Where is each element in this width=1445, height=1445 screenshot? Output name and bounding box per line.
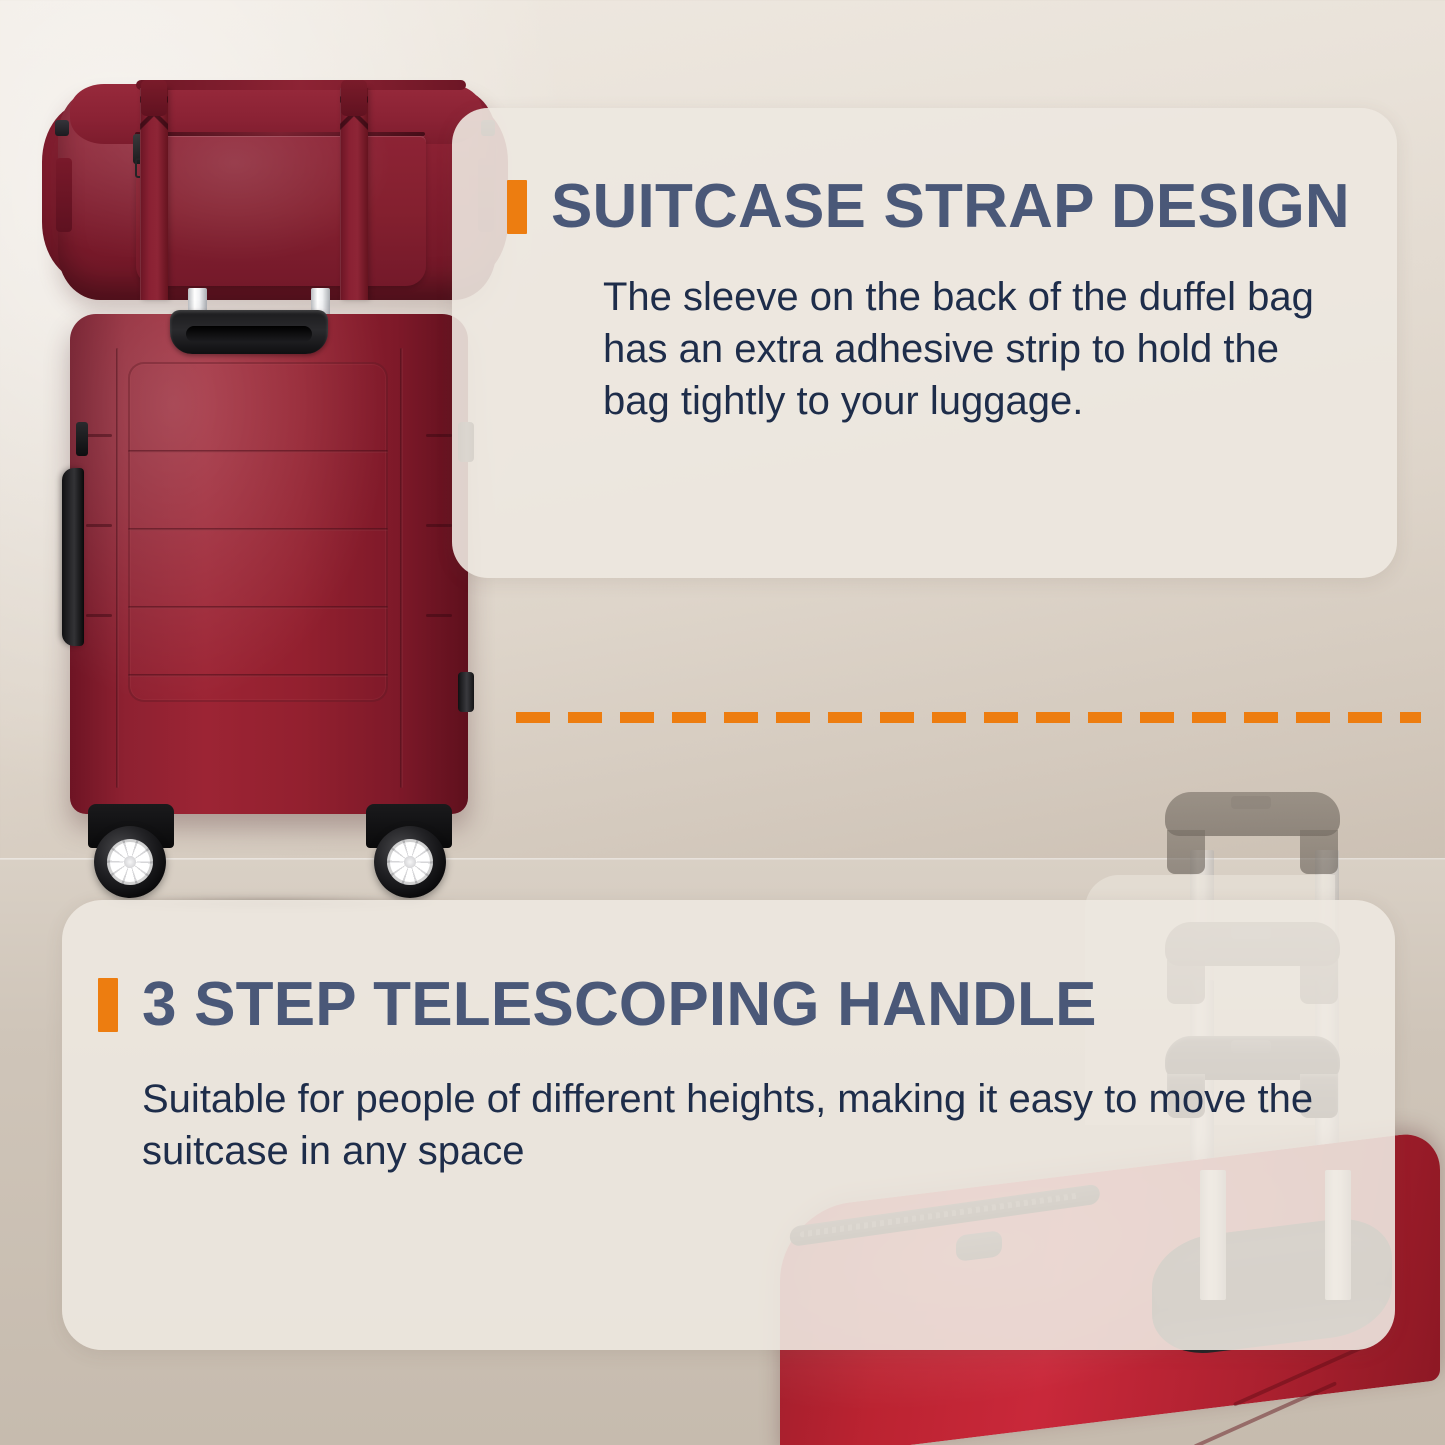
duffel-shoulder-strap — [136, 80, 466, 90]
suitcase-side-groove — [86, 524, 112, 527]
feature-description: Suitable for people of different heights… — [98, 1073, 1355, 1177]
suitcase-rib-right — [400, 348, 403, 788]
suitcase-shell — [70, 314, 468, 814]
feature-card-telescoping-handle: 3 STEP TELESCOPING HANDLE Suitable for p… — [62, 900, 1395, 1350]
duffel-handle-loop-left — [141, 80, 167, 116]
handle-leg-right — [1300, 830, 1338, 874]
suitcase-groove — [128, 528, 388, 531]
suitcase-side-groove — [426, 524, 452, 527]
duffel-clip-left — [55, 120, 69, 136]
suitcase-top-handle — [170, 310, 328, 354]
feature-card-content: 3 STEP TELESCOPING HANDLE Suitable for p… — [98, 972, 1355, 1177]
wheel-hub — [387, 839, 433, 885]
suitcase-side-groove — [426, 614, 452, 617]
feature-heading-row: 3 STEP TELESCOPING HANDLE — [98, 972, 1355, 1039]
tsa-lock-icon — [76, 422, 88, 456]
duffel-bag-image — [40, 62, 510, 312]
feature-title: 3 STEP TELESCOPING HANDLE — [142, 972, 1097, 1039]
suitcase-side-groove — [86, 614, 112, 617]
wheel-hub — [107, 839, 153, 885]
feature-title: SUITCASE STRAP DESIGN — [551, 174, 1350, 241]
suitcase-side-groove — [86, 434, 112, 437]
suitcase-groove — [128, 606, 388, 609]
feature-description: The sleeve on the back of the duffel bag… — [507, 271, 1353, 427]
feature-card-suitcase-strap: SUITCASE STRAP DESIGN The sleeve on the … — [452, 108, 1397, 578]
suitcase-rib-left — [116, 348, 119, 788]
handle-position-step1 — [1165, 792, 1340, 870]
suitcase-groove — [128, 674, 388, 677]
suitcase-groove — [128, 450, 388, 453]
suitcase-latch-bottom — [458, 672, 474, 712]
duffel-carry-strap-right — [340, 88, 368, 300]
suitcase-side-groove — [426, 434, 452, 437]
suitcase-upright-image — [60, 300, 480, 900]
handle-release-button — [1231, 796, 1271, 809]
spinner-wheel-right — [374, 826, 446, 898]
orange-accent-bar-icon — [98, 978, 118, 1032]
suitcase-side-handle — [62, 468, 84, 646]
dashed-divider — [516, 712, 1421, 723]
duffel-front-pocket — [136, 136, 426, 286]
handle-leg-left — [1167, 830, 1205, 874]
orange-accent-bar-icon — [507, 180, 527, 234]
feature-card-content: SUITCASE STRAP DESIGN The sleeve on the … — [507, 174, 1353, 427]
duffel-handle-loop-right — [341, 80, 367, 116]
feature-heading-row: SUITCASE STRAP DESIGN — [507, 174, 1353, 241]
duffel-carry-strap-left — [140, 88, 168, 300]
duffel-side-strap-left — [56, 158, 72, 232]
suitcase-front-panel — [128, 362, 388, 702]
spinner-wheel-left — [94, 826, 166, 898]
